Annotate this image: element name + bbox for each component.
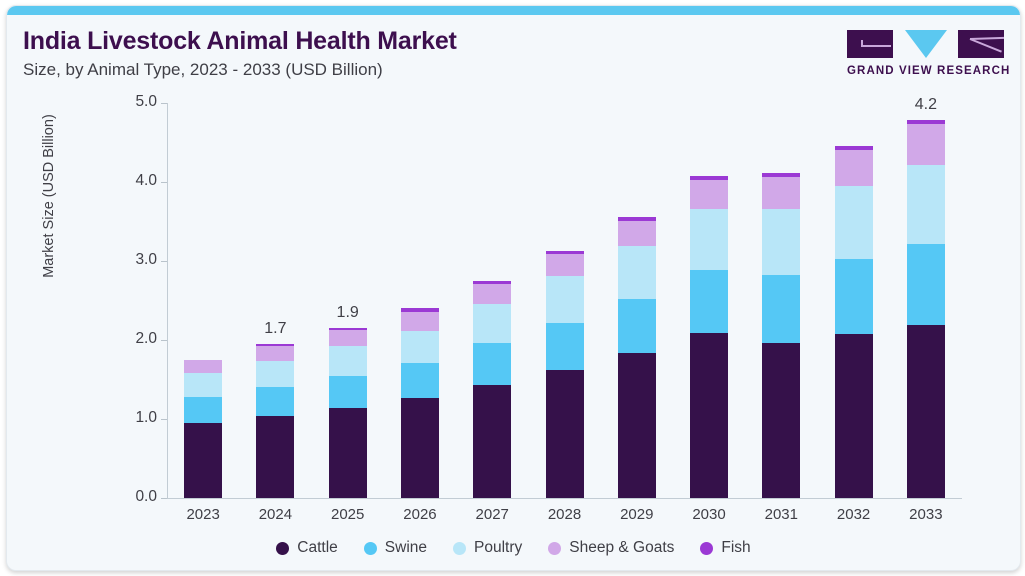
legend-swatch-icon: [700, 542, 713, 555]
bar-segment-sheep-goats[interactable]: [762, 177, 800, 209]
bar-segment-poultry[interactable]: [401, 331, 439, 363]
bar-stack: [835, 146, 873, 498]
legend-label: Swine: [385, 539, 427, 557]
bar-segment-swine[interactable]: [401, 363, 439, 399]
bar-segment-cattle[interactable]: [762, 343, 800, 498]
bar-segment-cattle[interactable]: [690, 333, 728, 498]
bar-segment-swine[interactable]: [690, 270, 728, 332]
bar-segment-swine[interactable]: [835, 259, 873, 333]
bar-group-2023[interactable]: [184, 360, 222, 498]
bar-segment-cattle[interactable]: [184, 423, 222, 498]
x-axis-tick-label: 2029: [607, 506, 667, 523]
bar-group-2027[interactable]: [473, 281, 511, 498]
bar-segment-cattle[interactable]: [256, 416, 294, 498]
bar-series-container: 1.71.94.2: [167, 103, 962, 498]
bar-group-2025[interactable]: 1.9: [329, 328, 367, 498]
x-axis-tick-label: 2025: [318, 506, 378, 523]
bar-stack: 1.7: [256, 344, 294, 498]
bar-value-label: 1.7: [264, 320, 286, 338]
bar-stack: 4.2: [907, 120, 945, 498]
x-axis-tick-label: 2031: [751, 506, 811, 523]
bar-stack: [690, 176, 728, 498]
y-axis-tick-label: 2.0: [115, 330, 157, 348]
x-axis-tick-label: 2032: [824, 506, 884, 523]
y-axis-tick-label: 4.0: [115, 172, 157, 190]
bar-segment-poultry[interactable]: [329, 346, 367, 375]
legend-swatch-icon: [276, 542, 289, 555]
bar-group-2033[interactable]: 4.2: [907, 120, 945, 498]
bar-stack: [618, 217, 656, 498]
bar-value-label: 1.9: [337, 304, 359, 322]
bar-segment-sheep-goats[interactable]: [329, 330, 367, 347]
x-axis-tick-label: 2028: [535, 506, 595, 523]
bar-segment-poultry[interactable]: [256, 361, 294, 387]
bar-stack: 1.9: [329, 328, 367, 498]
x-axis-tick-label: 2023: [173, 506, 233, 523]
x-axis-tick-label: 2024: [245, 506, 305, 523]
bar-segment-sheep-goats[interactable]: [184, 360, 222, 373]
bar-segment-cattle[interactable]: [618, 353, 656, 498]
bar-group-2031[interactable]: [762, 173, 800, 498]
legend-item-cattle[interactable]: Cattle: [276, 539, 338, 557]
legend-swatch-icon: [364, 542, 377, 555]
chart-legend: CattleSwinePoultrySheep & GoatsFish: [7, 539, 1020, 557]
bar-group-2030[interactable]: [690, 176, 728, 498]
bar-segment-swine[interactable]: [329, 376, 367, 408]
bar-value-label: 4.2: [915, 96, 937, 114]
bar-segment-sheep-goats[interactable]: [401, 312, 439, 331]
legend-item-poultry[interactable]: Poultry: [453, 539, 522, 557]
bar-segment-poultry[interactable]: [690, 209, 728, 271]
bar-segment-cattle[interactable]: [401, 398, 439, 498]
bar-segment-poultry[interactable]: [762, 209, 800, 275]
bar-segment-poultry[interactable]: [184, 373, 222, 397]
bar-segment-sheep-goats[interactable]: [907, 124, 945, 164]
legend-item-swine[interactable]: Swine: [364, 539, 427, 557]
legend-swatch-icon: [453, 542, 466, 555]
bar-segment-cattle[interactable]: [329, 408, 367, 498]
legend-item-fish[interactable]: Fish: [700, 539, 750, 557]
bar-stack: [473, 281, 511, 498]
bar-segment-poultry[interactable]: [835, 186, 873, 259]
bar-stack: [401, 308, 439, 498]
bar-segment-sheep-goats[interactable]: [835, 150, 873, 186]
legend-label: Fish: [721, 539, 750, 557]
bar-group-2024[interactable]: 1.7: [256, 344, 294, 498]
bar-segment-poultry[interactable]: [473, 304, 511, 344]
bar-segment-swine[interactable]: [618, 299, 656, 354]
chart-card: India Livestock Animal Health Market Siz…: [6, 5, 1021, 571]
bar-stack: [546, 251, 584, 498]
bar-segment-poultry[interactable]: [618, 246, 656, 299]
bar-segment-sheep-goats[interactable]: [618, 221, 656, 246]
bar-segment-sheep-goats[interactable]: [546, 254, 584, 276]
bar-stack: [184, 360, 222, 498]
y-axis-title: Market Size (USD Billion): [41, 66, 57, 326]
bar-group-2028[interactable]: [546, 251, 584, 498]
bar-group-2032[interactable]: [835, 146, 873, 498]
x-axis-tick-label: 2027: [462, 506, 522, 523]
x-axis-line: [167, 498, 962, 499]
bar-segment-sheep-goats[interactable]: [473, 284, 511, 304]
legend-label: Sheep & Goats: [569, 539, 674, 557]
bar-segment-swine[interactable]: [907, 244, 945, 325]
bar-segment-swine[interactable]: [546, 323, 584, 370]
x-axis-tick-label: 2033: [896, 506, 956, 523]
bar-segment-cattle[interactable]: [473, 385, 511, 498]
bar-segment-swine[interactable]: [184, 397, 222, 423]
bar-group-2029[interactable]: [618, 217, 656, 498]
y-axis-tick-label: 1.0: [115, 409, 157, 427]
bar-segment-cattle[interactable]: [546, 370, 584, 498]
bar-segment-cattle[interactable]: [907, 325, 945, 498]
legend-label: Cattle: [297, 539, 338, 557]
bar-segment-sheep-goats[interactable]: [256, 346, 294, 361]
legend-item-sheep-goats[interactable]: Sheep & Goats: [548, 539, 674, 557]
bar-stack: [762, 173, 800, 498]
y-axis-tick-label: 5.0: [115, 93, 157, 111]
bar-segment-poultry[interactable]: [907, 165, 945, 244]
bar-segment-swine[interactable]: [256, 387, 294, 416]
bar-group-2026[interactable]: [401, 308, 439, 498]
bar-segment-swine[interactable]: [762, 275, 800, 343]
legend-label: Poultry: [474, 539, 522, 557]
bar-segment-poultry[interactable]: [546, 276, 584, 323]
x-axis-tick-label: 2030: [679, 506, 739, 523]
bar-segment-sheep-goats[interactable]: [690, 180, 728, 209]
legend-swatch-icon: [548, 542, 561, 555]
chart-plot-area: Market Size (USD Billion) 0.01.02.03.04.…: [7, 6, 1020, 570]
y-axis-tick-label: 0.0: [115, 488, 157, 506]
bar-segment-cattle[interactable]: [835, 334, 873, 498]
bar-segment-swine[interactable]: [473, 343, 511, 385]
y-axis-tick-label: 3.0: [115, 251, 157, 269]
x-axis-tick-label: 2026: [390, 506, 450, 523]
